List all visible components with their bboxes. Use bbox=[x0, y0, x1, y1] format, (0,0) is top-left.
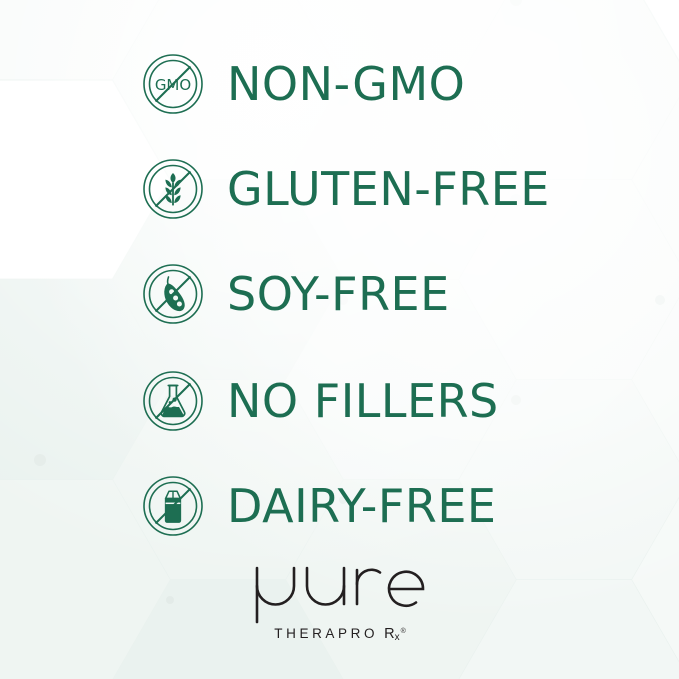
badge-row-soy-free: SOY-FREE bbox=[141, 262, 450, 326]
badge-row-gluten-free: GLUTEN-FREE bbox=[141, 157, 550, 221]
promo-graphic: GMO NON-GMO bbox=[0, 0, 679, 679]
gmo-icon-text: GMO bbox=[155, 76, 191, 94]
badge-row-dairy-free: DAIRY-FREE bbox=[141, 474, 496, 538]
no-flask-icon bbox=[141, 369, 205, 433]
badge-label-non-gmo: NON-GMO bbox=[227, 61, 465, 107]
badge-label-dairy-free: DAIRY-FREE bbox=[227, 483, 496, 529]
no-soybean-icon bbox=[141, 262, 205, 326]
no-milk-carton-icon bbox=[141, 474, 205, 538]
pure-wordmark bbox=[250, 558, 430, 624]
pure-tagline: THERAPRO Rx® bbox=[274, 626, 404, 642]
badge-row-no-fillers: NO FILLERS bbox=[141, 369, 499, 433]
badge-row-non-gmo: GMO NON-GMO bbox=[141, 52, 465, 116]
badge-label-no-fillers: NO FILLERS bbox=[227, 378, 499, 424]
badge-list: GMO NON-GMO bbox=[0, 0, 679, 679]
tagline-text: THERAPRO bbox=[274, 626, 378, 641]
badge-label-soy-free: SOY-FREE bbox=[227, 271, 450, 317]
rx-mark: Rx® bbox=[384, 626, 405, 642]
badge-label-gluten-free: GLUTEN-FREE bbox=[227, 166, 550, 212]
no-wheat-icon bbox=[141, 157, 205, 221]
no-gmo-icon: GMO bbox=[141, 52, 205, 116]
brand-logo: THERAPRO Rx® bbox=[0, 558, 679, 642]
